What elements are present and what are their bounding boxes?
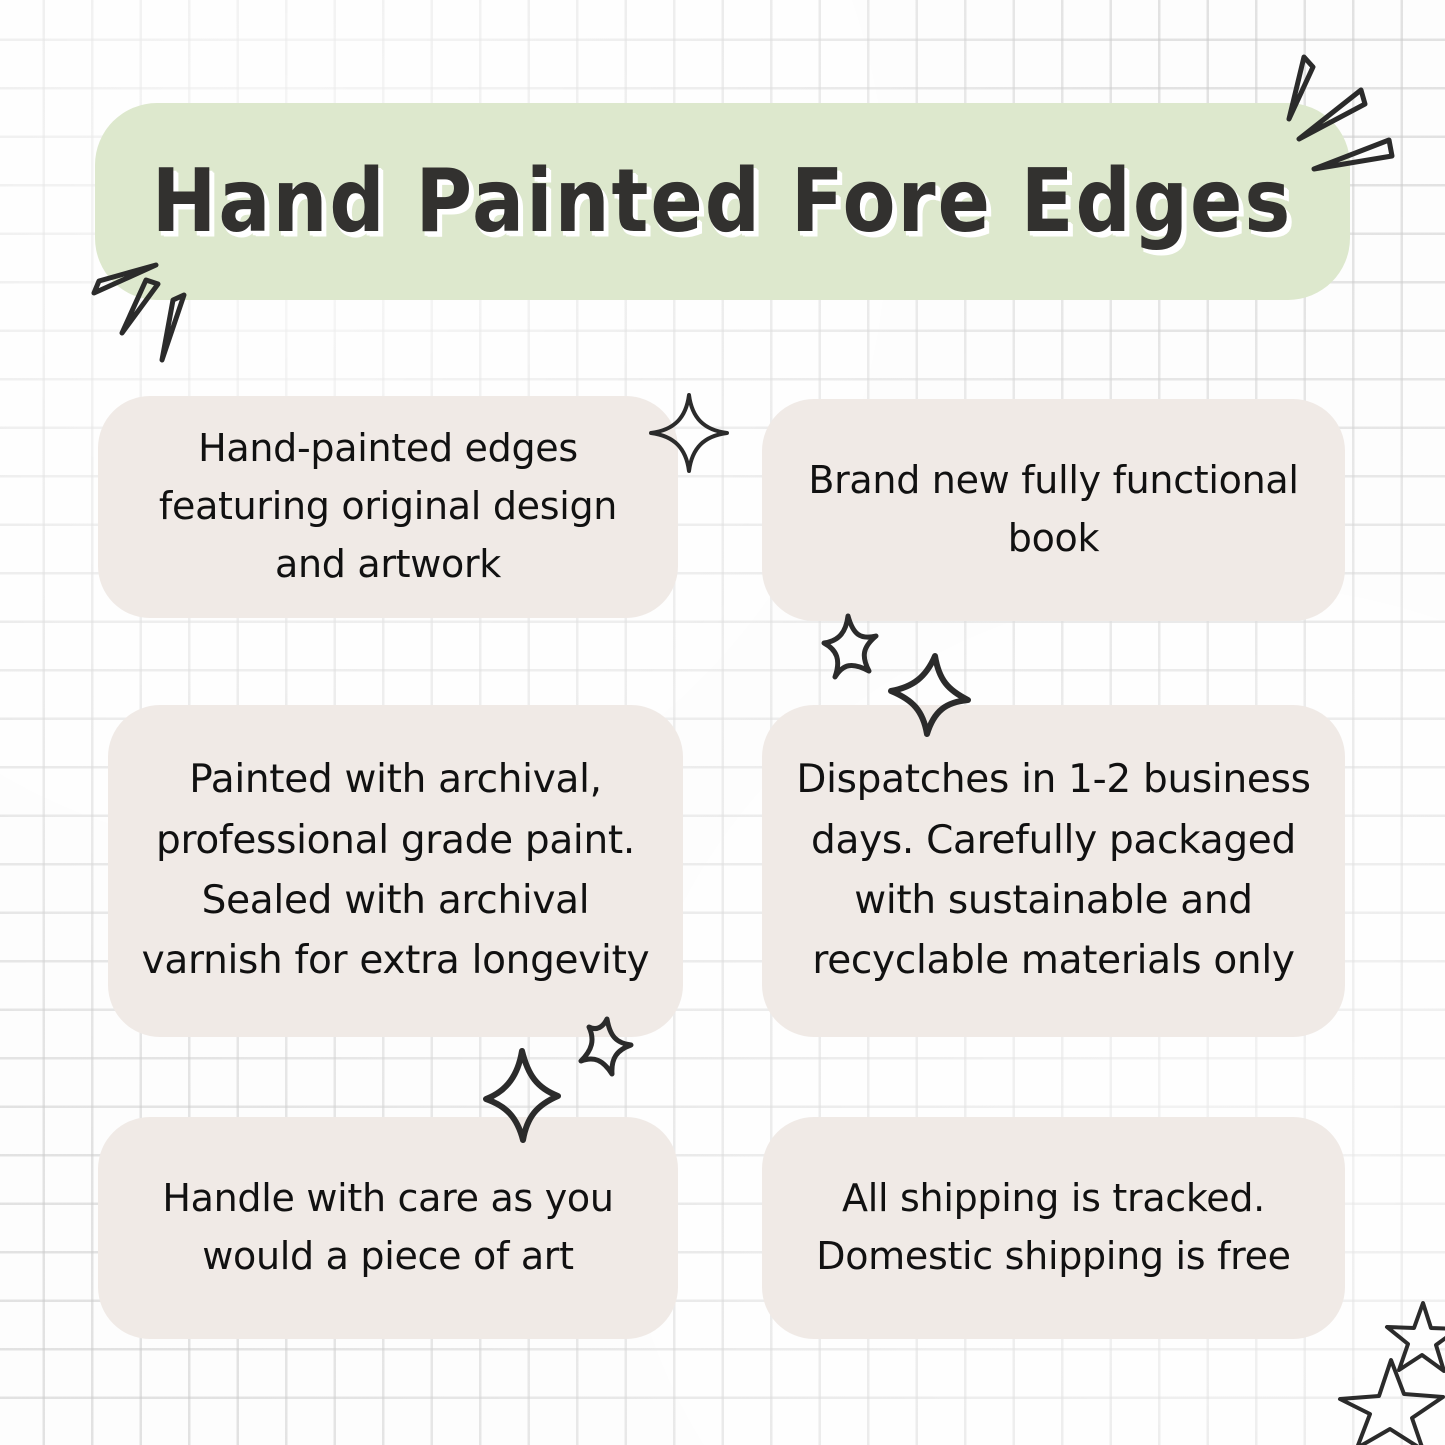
feature-card-text: Painted with archival, professional grad… [108, 750, 683, 992]
feature-card: Hand-painted edges featuring original de… [98, 396, 678, 618]
feature-card: Dispatches in 1-2 business days. Careful… [762, 705, 1345, 1037]
feature-card-text: Hand-painted edges featuring original de… [98, 420, 678, 593]
page-title: Hand Painted Fore Edges [152, 151, 1293, 252]
feature-card-text: Dispatches in 1-2 business days. Careful… [762, 750, 1345, 992]
feature-card: All shipping is tracked. Domestic shippi… [762, 1117, 1345, 1339]
promo-graphic: Hand Painted Fore Edges Hand-painted edg… [0, 0, 1445, 1445]
feature-card: Handle with care as you would a piece of… [98, 1117, 678, 1339]
feature-card-text: Handle with care as you would a piece of… [98, 1170, 678, 1286]
feature-card: Brand new fully functional book [762, 399, 1345, 621]
feature-card-text: Brand new fully functional book [762, 452, 1345, 568]
feature-card: Painted with archival, professional grad… [108, 705, 683, 1037]
feature-card-text: All shipping is tracked. Domestic shippi… [762, 1170, 1345, 1286]
title-banner: Hand Painted Fore Edges [95, 103, 1350, 300]
